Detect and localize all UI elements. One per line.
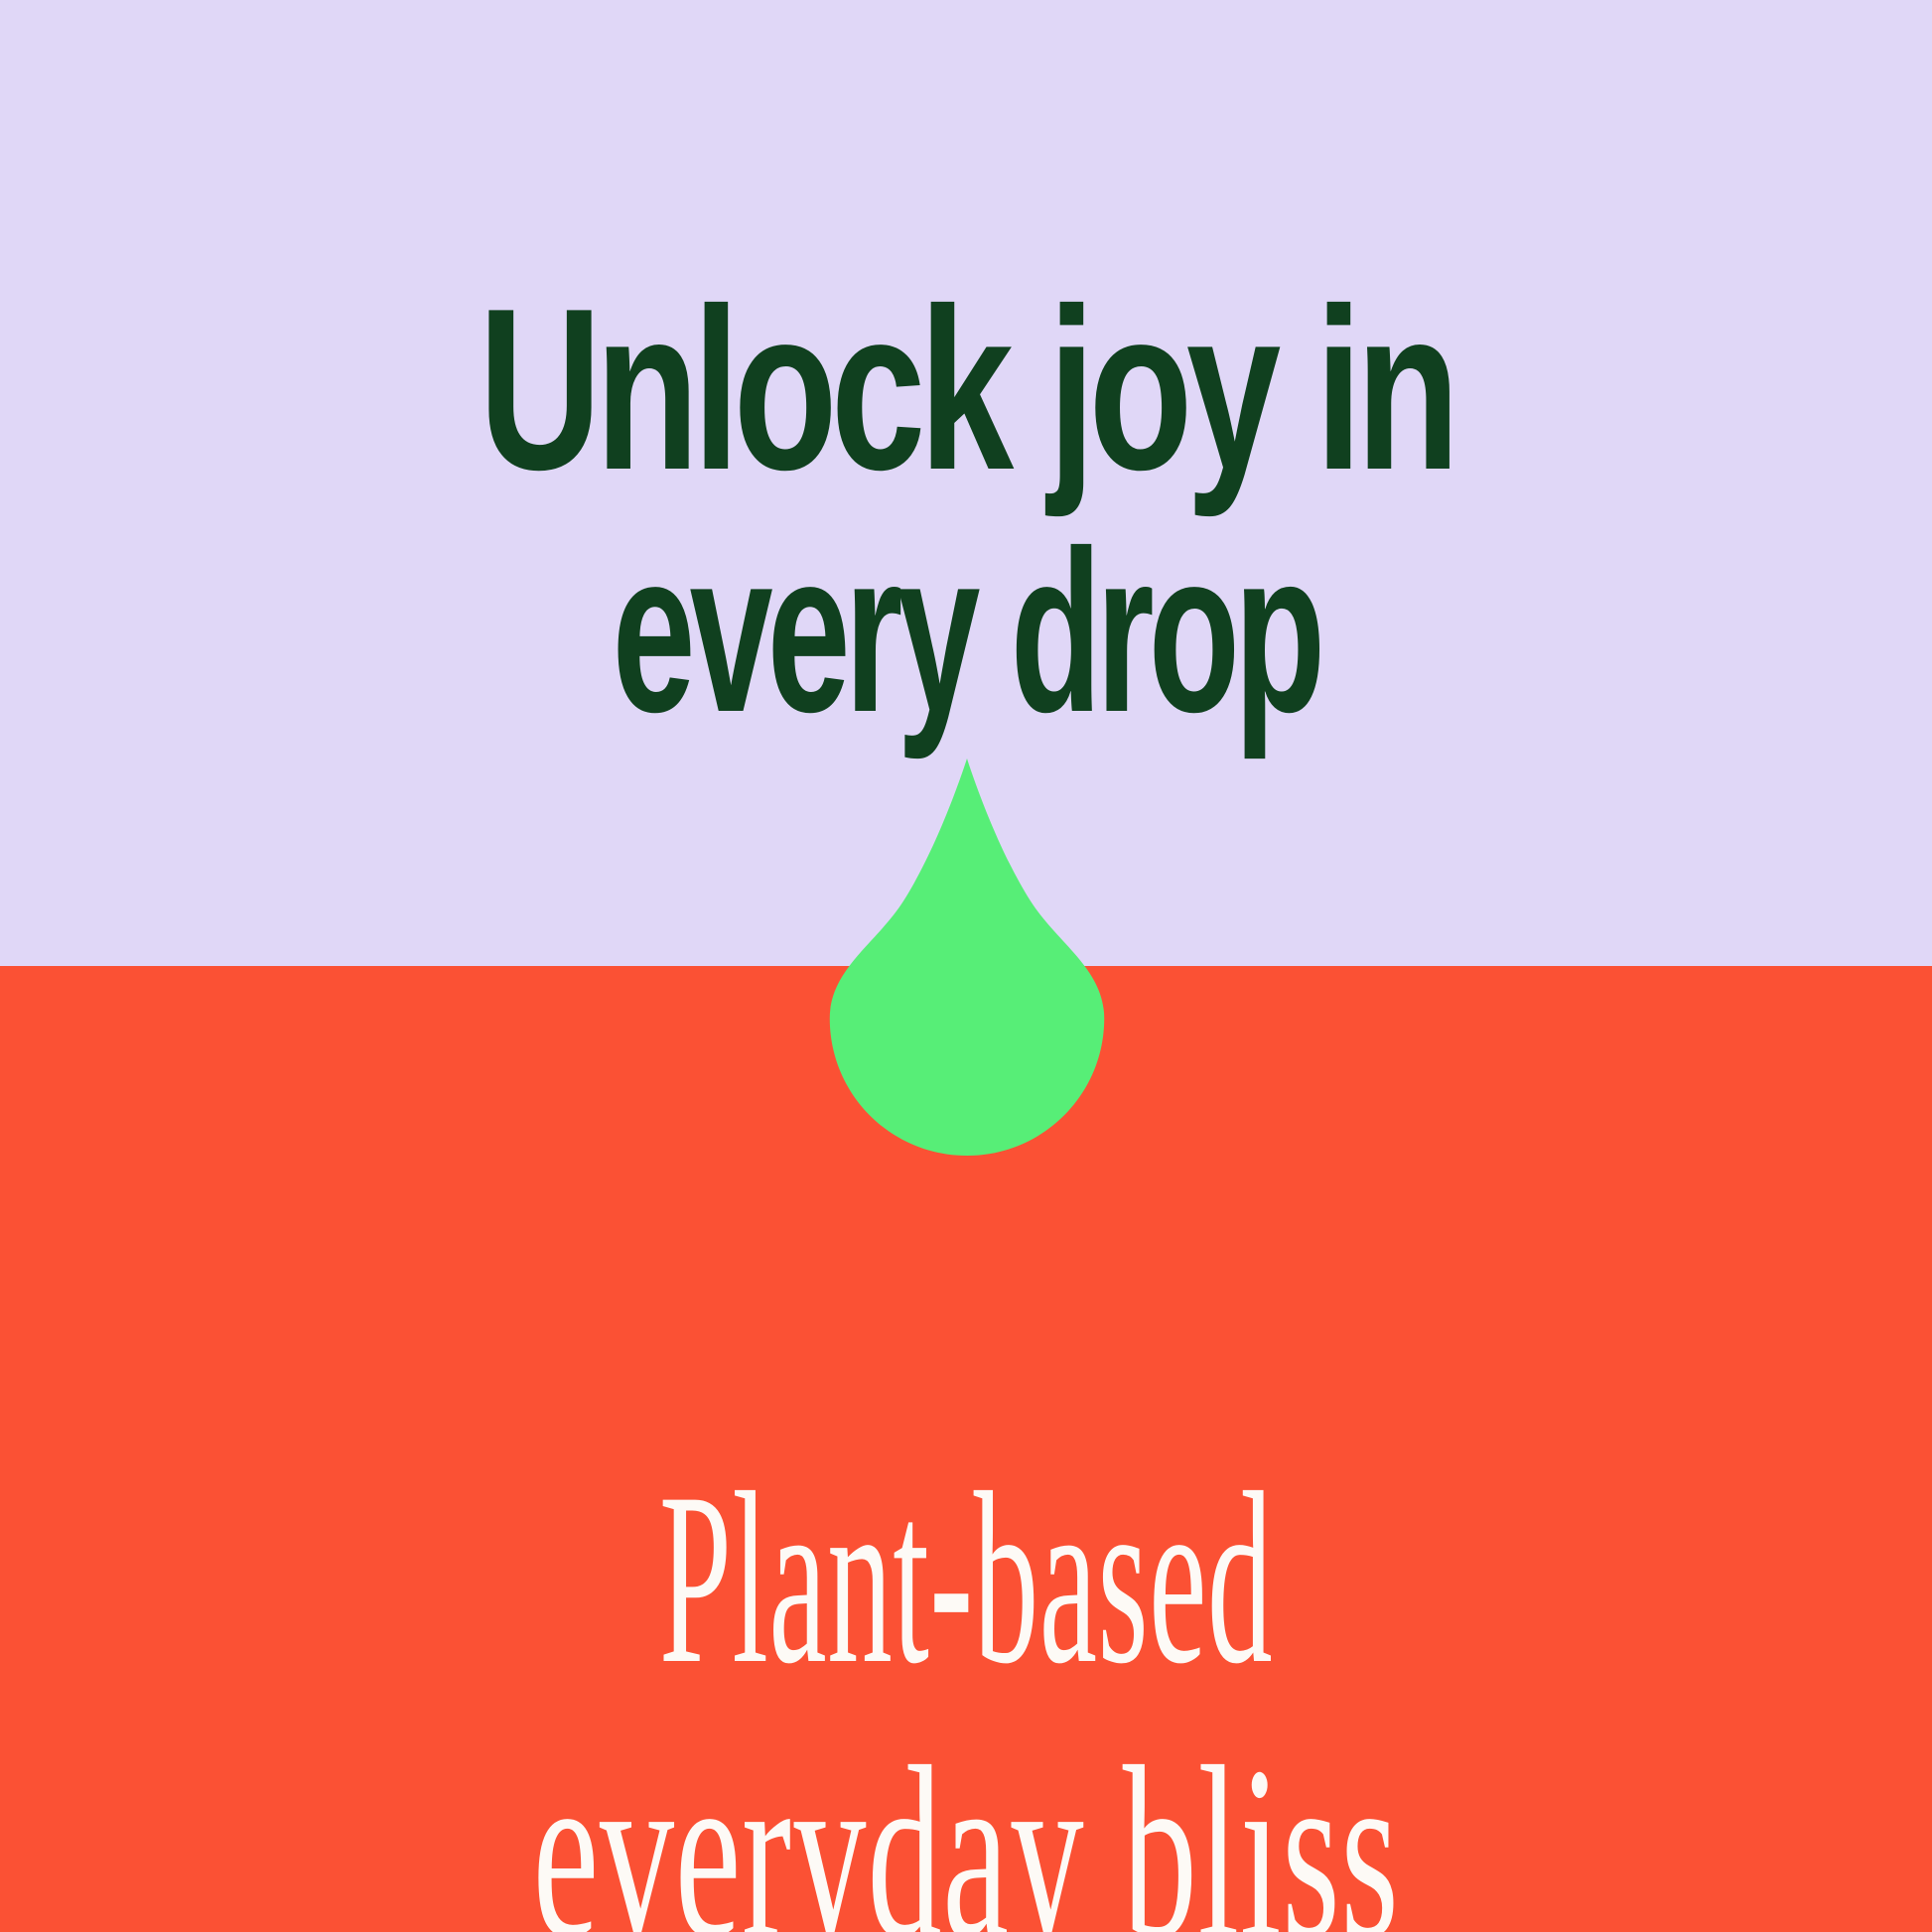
top-headline-line-1: Unlock joy in bbox=[251, 269, 1681, 511]
promo-poster: Unlock joy in every drop Plant-based eve… bbox=[0, 0, 1932, 1932]
bottom-headline: Plant-based everyday bliss bbox=[0, 1442, 1932, 1932]
top-headline: Unlock joy in every drop bbox=[0, 269, 1932, 754]
bottom-headline-line-2: everyday bliss bbox=[380, 1716, 1552, 1932]
top-headline-line-2: every drop bbox=[338, 511, 1593, 754]
bottom-headline-line-1: Plant-based bbox=[455, 1442, 1477, 1716]
